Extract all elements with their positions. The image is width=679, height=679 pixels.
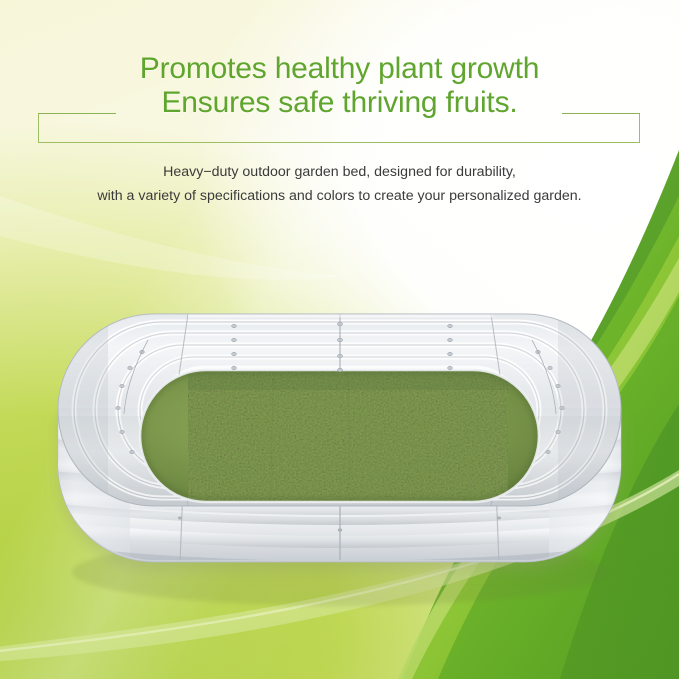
bed-interior bbox=[140, 356, 539, 516]
product-photo-garden-bed bbox=[38, 296, 641, 608]
subtitle-line-2: with a variety of specifications and col… bbox=[0, 184, 679, 208]
headline: Promotes healthy plant growth Ensures sa… bbox=[0, 52, 679, 120]
subtitle: Heavy−duty outdoor garden bed, designed … bbox=[0, 160, 679, 208]
subtitle-line-1: Heavy−duty outdoor garden bed, designed … bbox=[0, 160, 679, 184]
garden-bed-illustration bbox=[38, 296, 641, 608]
product-banner: Promotes healthy plant growth Ensures sa… bbox=[0, 0, 679, 679]
soil-texture-group bbox=[140, 356, 539, 516]
headline-line-1: Promotes healthy plant growth bbox=[0, 52, 679, 86]
headline-line-2: Ensures safe thriving fruits. bbox=[0, 86, 679, 120]
